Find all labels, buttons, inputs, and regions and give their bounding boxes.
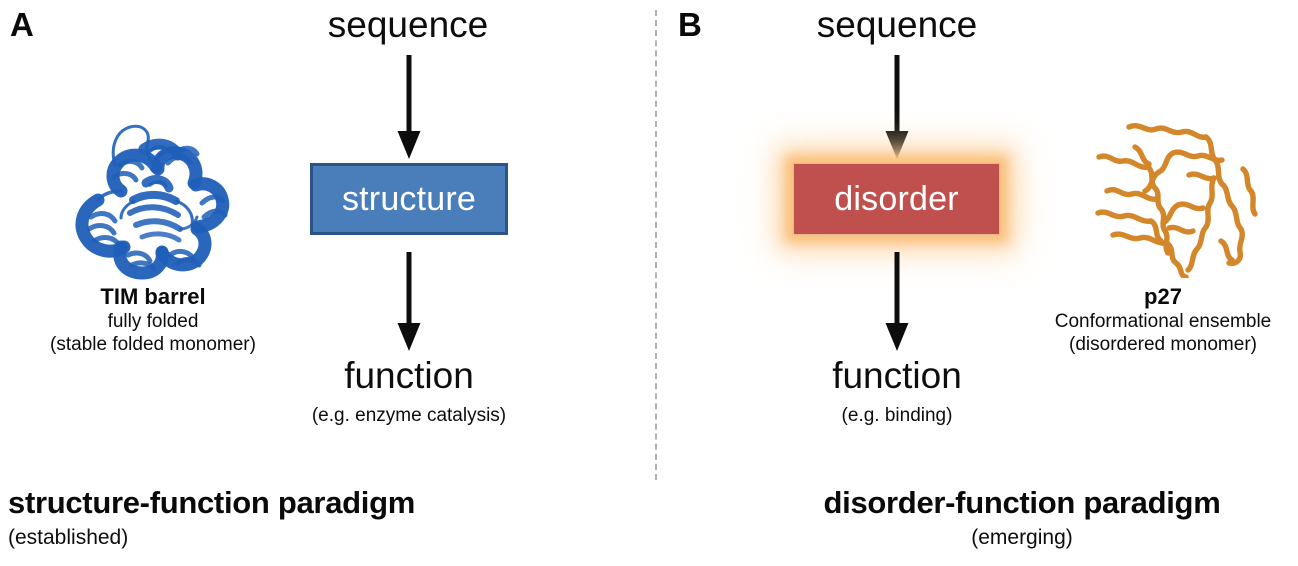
tim-barrel-caption-line-2: (stable folded monomer) bbox=[12, 333, 294, 356]
figure-canvas: A sequence structure function (e.g. enzy… bbox=[0, 0, 1298, 566]
structure-function-paradigm-title: structure-function paradigm bbox=[8, 487, 415, 520]
p27-disordered-ensemble bbox=[1093, 113, 1265, 278]
panel-b-arrow-disorder-to-function bbox=[880, 252, 914, 352]
panel-label-a: A bbox=[10, 8, 33, 41]
panel-a-sequence-label: sequence bbox=[258, 6, 558, 43]
panel-b-function-label: function bbox=[747, 357, 1047, 394]
tim-barrel-ribbon-diagram bbox=[58, 105, 253, 280]
structure-box-label: structure bbox=[342, 180, 476, 219]
disorder-function-paradigm-sub: (emerging) bbox=[752, 527, 1292, 549]
disorder-box-label: disorder bbox=[834, 180, 958, 219]
panel-b-arrow-sequence-to-disorder bbox=[880, 55, 914, 160]
disorder-box[interactable]: disorder bbox=[793, 163, 1000, 235]
structure-function-paradigm-sub: (established) bbox=[8, 527, 128, 549]
panel-b-sequence-label: sequence bbox=[747, 6, 1047, 43]
tim-barrel-caption: TIM barrel fully folded (stable folded m… bbox=[12, 285, 294, 356]
panel-label-b: B bbox=[678, 8, 701, 41]
p27-caption-line-1: Conformational ensemble bbox=[1030, 310, 1296, 333]
p27-caption-line-2: (disordered monomer) bbox=[1030, 333, 1296, 356]
panel-a-function-label: function bbox=[259, 357, 559, 394]
panel-a-function-sublabel: (e.g. enzyme catalysis) bbox=[259, 406, 559, 425]
p27-caption-title: p27 bbox=[1030, 285, 1296, 310]
tim-barrel-caption-line-1: fully folded bbox=[12, 310, 294, 333]
p27-caption: p27 Conformational ensemble (disordered … bbox=[1030, 285, 1296, 356]
structure-box[interactable]: structure bbox=[310, 163, 508, 235]
panel-a-arrow-sequence-to-structure bbox=[392, 55, 426, 160]
tim-barrel-caption-title: TIM barrel bbox=[12, 285, 294, 310]
panel-a-arrow-structure-to-function bbox=[392, 252, 426, 352]
panel-divider bbox=[655, 10, 657, 480]
panel-b-function-sublabel: (e.g. binding) bbox=[747, 406, 1047, 425]
disorder-function-paradigm-title: disorder-function paradigm bbox=[752, 487, 1292, 520]
